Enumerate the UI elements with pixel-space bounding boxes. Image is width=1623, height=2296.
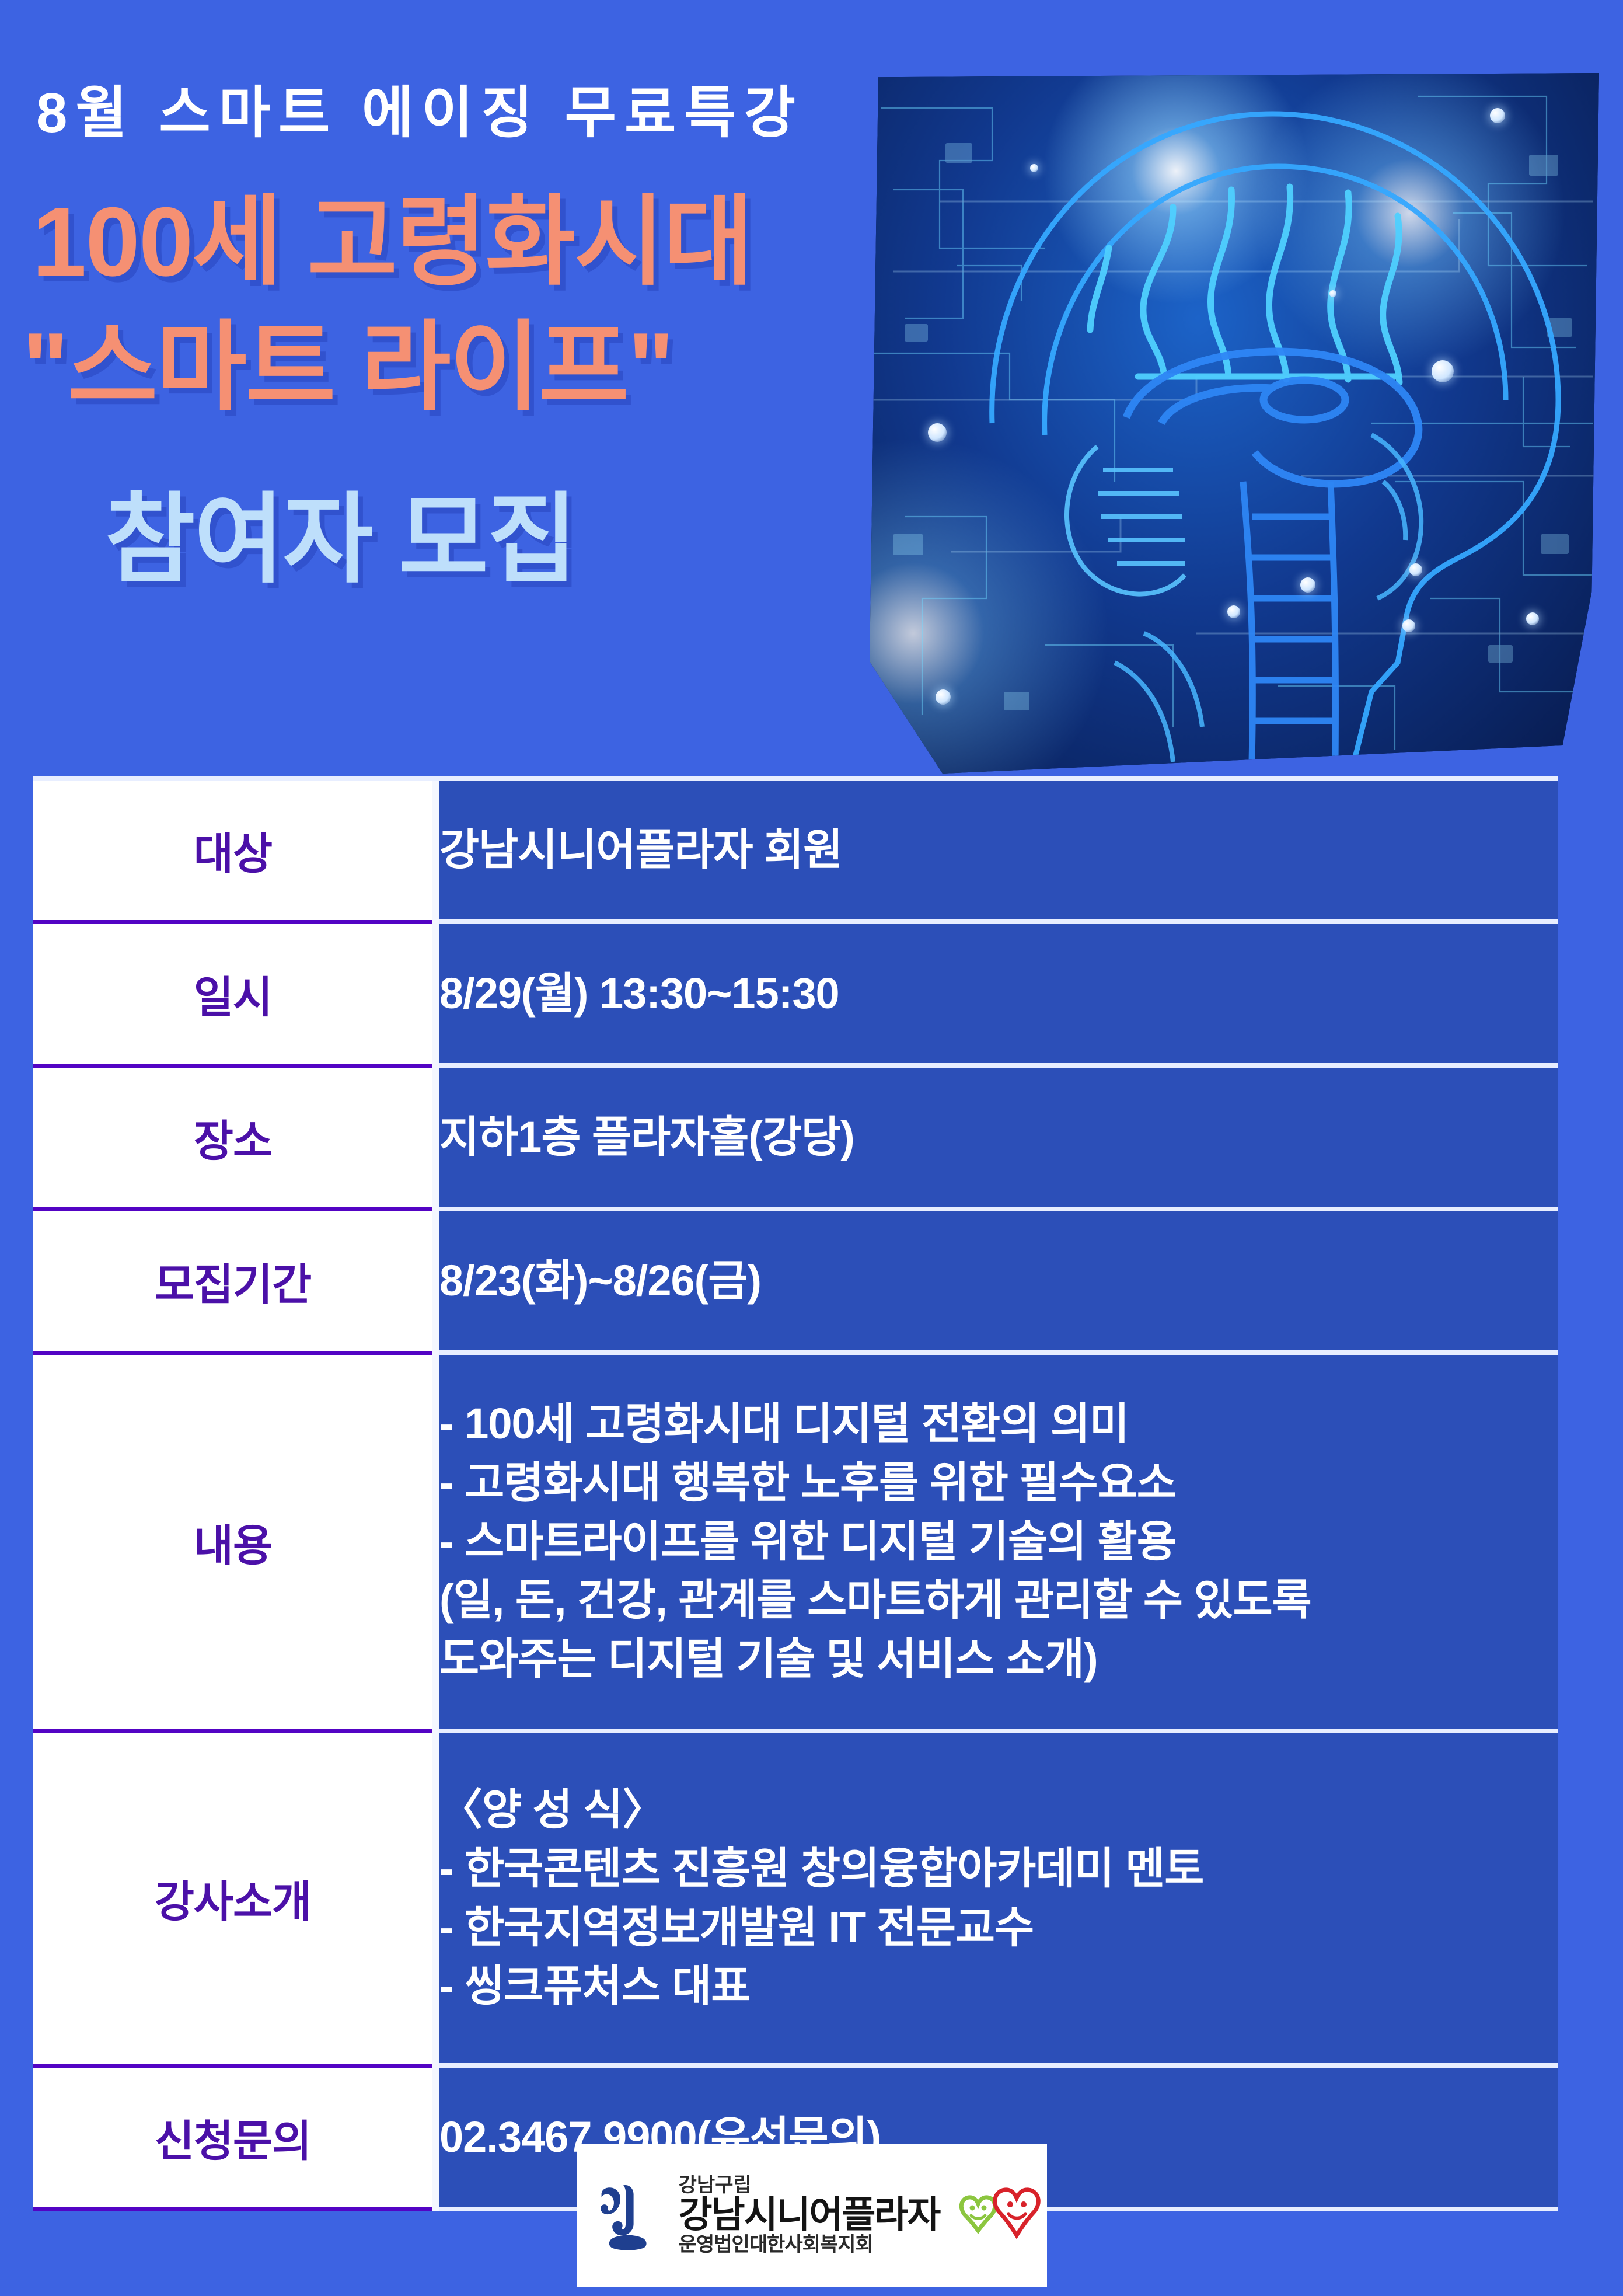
title-line-2: "스마트 라이프" [22,318,673,416]
row-label-content: 내용 [33,1353,436,1731]
value-line: 8/29(월) 13:30~15:30 [439,964,1558,1023]
title-line-3: 참여자 모집 [105,490,576,588]
logo-supertext: 강남구립 [679,2175,940,2196]
row-label-period: 모집기간 [33,1209,436,1353]
table-row: 강사소개 〈양 성 식〉 - 한국콘텐츠 진흥원 창의융합아카데미 멘토 - 한… [33,1731,1558,2065]
value-line: - 한국지역정보개발원 IT 전문교수 [439,1898,1558,1957]
value-line: - 스마트라이프를 위한 디지털 기술의 활용 [439,1513,1558,1572]
brain-image-clip [870,73,1599,774]
row-label-place: 장소 [33,1065,436,1209]
table-row: 장소 지하1층 플라자홀(강당) [33,1065,1558,1209]
value-line: - 한국콘텐츠 진흥원 창의융합아카데미 멘토 [439,1839,1558,1898]
row-label-datetime: 일시 [33,922,436,1065]
logo-text-block: 강남구립 강남시니어플라자 운영법인대한사회복지회 [679,2175,940,2256]
row-value-place: 지하1층 플라자홀(강당) [436,1065,1558,1209]
value-line: - 씽크퓨처스 대표 [439,1957,1558,2016]
row-value-instructor: 〈양 성 식〉 - 한국콘텐츠 진흥원 창의융합아카데미 멘토 - 한국지역정보… [436,1731,1558,2065]
value-line: 지하1층 플라자홀(강당) [439,1108,1558,1167]
value-line: - 100세 고령화시대 디지털 전환의 의미 [439,1395,1558,1454]
logo-main-text: 강남시니어플라자 [679,2196,940,2234]
row-value-target: 강남시니어플라자 회원 [436,781,1558,922]
logo-inner: 강남구립 강남시니어플라자 운영법인대한사회복지회 [581,2175,1043,2256]
value-line: - 고령화시대 행복한 노후를 위한 필수요소 [439,1454,1558,1513]
brain-anatomy-icon [870,73,1599,774]
value-line: 강남시니어플라자 회원 [439,821,1558,880]
brain-circuit-image [870,73,1599,774]
table-row: 일시 8/29(월) 13:30~15:30 [33,922,1558,1065]
organization-logo: 강남구립 강남시니어플라자 운영법인대한사회복지회 [577,2144,1047,2287]
row-label-target: 대상 [33,781,436,922]
value-line: (일, 돈, 건강, 관계를 스마트하게 관리할 수 있도록 [439,1571,1558,1630]
row-value-content: - 100세 고령화시대 디지털 전환의 의미 - 고령화시대 행복한 노후를 … [436,1353,1558,1731]
gangnam-symbol-icon [591,2176,668,2253]
row-label-contact: 신청문의 [33,2065,436,2209]
logo-subtext: 운영법인대한사회복지회 [679,2235,940,2256]
table-row: 대상 강남시니어플라자 회원 [33,781,1558,922]
info-table: 대상 강남시니어플라자 회원 일시 8/29(월) 13:30~15:30 장소… [33,781,1558,2211]
smiley-hearts-icon [955,2183,1042,2247]
table-row: 모집기간 8/23(화)~8/26(금) [33,1209,1558,1353]
row-value-period: 8/23(화)~8/26(금) [436,1209,1558,1353]
value-line: 도와주는 디지털 기술 및 서비스 소개) [439,1630,1558,1689]
value-line: 8/23(화)~8/26(금) [439,1252,1558,1311]
title-line-1: 100세 고령화시대 [32,193,752,291]
kicker-text: 8월 스마트 에이징 무료특강 [36,67,804,148]
table-row: 내용 - 100세 고령화시대 디지털 전환의 의미 - 고령화시대 행복한 노… [33,1353,1558,1731]
row-value-datetime: 8/29(월) 13:30~15:30 [436,922,1558,1065]
row-label-instructor: 강사소개 [33,1731,436,2065]
value-line: 〈양 성 식〉 [439,1781,1558,1839]
poster-header: 8월 스마트 에이징 무료특강 100세 고령화시대 "스마트 라이프" 참여자… [0,0,875,701]
